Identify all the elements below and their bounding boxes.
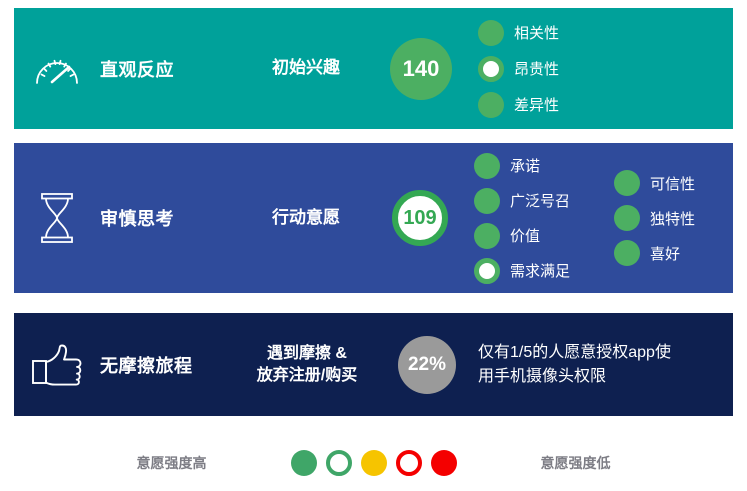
hourglass-icon <box>14 192 100 244</box>
legend-label-high: 意愿强度高 <box>137 453 207 473</box>
status-dot-filled <box>614 170 640 196</box>
metric-label: 行动意愿 <box>230 207 382 230</box>
thumbs-up-icon <box>14 343 100 387</box>
attribute-column: 承诺 广泛号召 价值 需求满足 <box>474 148 570 288</box>
attribute-label: 差异性 <box>514 94 559 115</box>
attribute-label: 价值 <box>510 225 540 246</box>
status-dot-filled <box>478 92 504 118</box>
section-intuitive-response: 直观反应 初始兴趣 140 相关性 昂贵性 差异性 <box>14 8 733 129</box>
list-item: 价值 <box>474 218 570 253</box>
funnel-infographic: 直观反应 初始兴趣 140 相关性 昂贵性 差异性 <box>0 0 747 491</box>
list-item: 可信性 <box>614 166 695 201</box>
attribute-label: 独特性 <box>650 208 695 229</box>
note-text: 仅有1/5的人愿意授权app使 用手机摄像头权限 <box>478 341 671 387</box>
list-item: 相关性 <box>478 15 559 51</box>
status-dot-ring <box>478 56 504 82</box>
list-item: 广泛号召 <box>474 183 570 218</box>
score-badge: 140 <box>390 38 452 100</box>
status-dot-filled <box>474 153 500 179</box>
attribute-label: 可信性 <box>650 173 695 194</box>
note-line1: 仅有1/5的人愿意授权app使 <box>478 341 671 364</box>
legend-swatch-yellow-solid <box>361 450 387 476</box>
status-dot-filled <box>614 205 640 231</box>
section-deliberate-thinking: 审慎思考 行动意愿 109 承诺 广泛号召 价值 需求满足 <box>14 143 733 293</box>
section-frictionless-journey: 无摩擦旅程 遇到摩擦 & 放弃注册/购买 22% 仅有1/5的人愿意授权app使… <box>14 313 733 416</box>
status-dot-filled <box>614 240 640 266</box>
legend: 意愿强度高 意愿强度低 <box>0 438 747 488</box>
list-item: 差异性 <box>478 87 559 123</box>
legend-label-low: 意愿强度低 <box>541 453 611 473</box>
metric-label-line2: 放弃注册/购买 <box>222 365 392 387</box>
status-dot-filled <box>474 223 500 249</box>
attribute-column: 相关性 昂贵性 差异性 <box>478 15 559 123</box>
metric-label-line1: 遇到摩擦 & <box>222 343 392 365</box>
list-item: 承诺 <box>474 148 570 183</box>
stage-label: 审慎思考 <box>100 205 212 231</box>
list-item: 需求满足 <box>474 253 570 288</box>
legend-swatch-red-ring <box>396 450 422 476</box>
score-badge: 109 <box>392 190 448 246</box>
gauge-icon <box>14 52 100 86</box>
legend-swatches <box>291 450 457 476</box>
attribute-columns: 承诺 广泛号召 价值 需求满足 可信性 <box>474 148 695 288</box>
attribute-column: 可信性 独特性 喜好 <box>614 148 695 288</box>
attribute-label: 承诺 <box>510 155 540 176</box>
note-line2: 用手机摄像头权限 <box>478 365 671 388</box>
attribute-columns: 相关性 昂贵性 差异性 <box>478 15 559 123</box>
status-dot-ring <box>474 258 500 284</box>
score-badge: 22% <box>398 336 456 394</box>
stage-label: 无摩擦旅程 <box>100 352 212 378</box>
legend-swatch-green-solid <box>291 450 317 476</box>
attribute-label: 广泛号召 <box>510 190 570 211</box>
attribute-label: 相关性 <box>514 22 559 43</box>
stage-label: 直观反应 <box>100 56 212 82</box>
attribute-label: 需求满足 <box>510 260 570 281</box>
status-dot-filled <box>474 188 500 214</box>
metric-label: 遇到摩擦 & 放弃注册/购买 <box>222 343 392 386</box>
legend-swatch-red-solid <box>431 450 457 476</box>
status-dot-filled <box>478 20 504 46</box>
list-item: 昂贵性 <box>478 51 559 87</box>
legend-swatch-green-ring <box>326 450 352 476</box>
attribute-label: 昂贵性 <box>514 58 559 79</box>
list-item: 喜好 <box>614 236 695 271</box>
metric-label: 初始兴趣 <box>230 57 382 80</box>
attribute-label: 喜好 <box>650 243 680 264</box>
list-item: 独特性 <box>614 201 695 236</box>
